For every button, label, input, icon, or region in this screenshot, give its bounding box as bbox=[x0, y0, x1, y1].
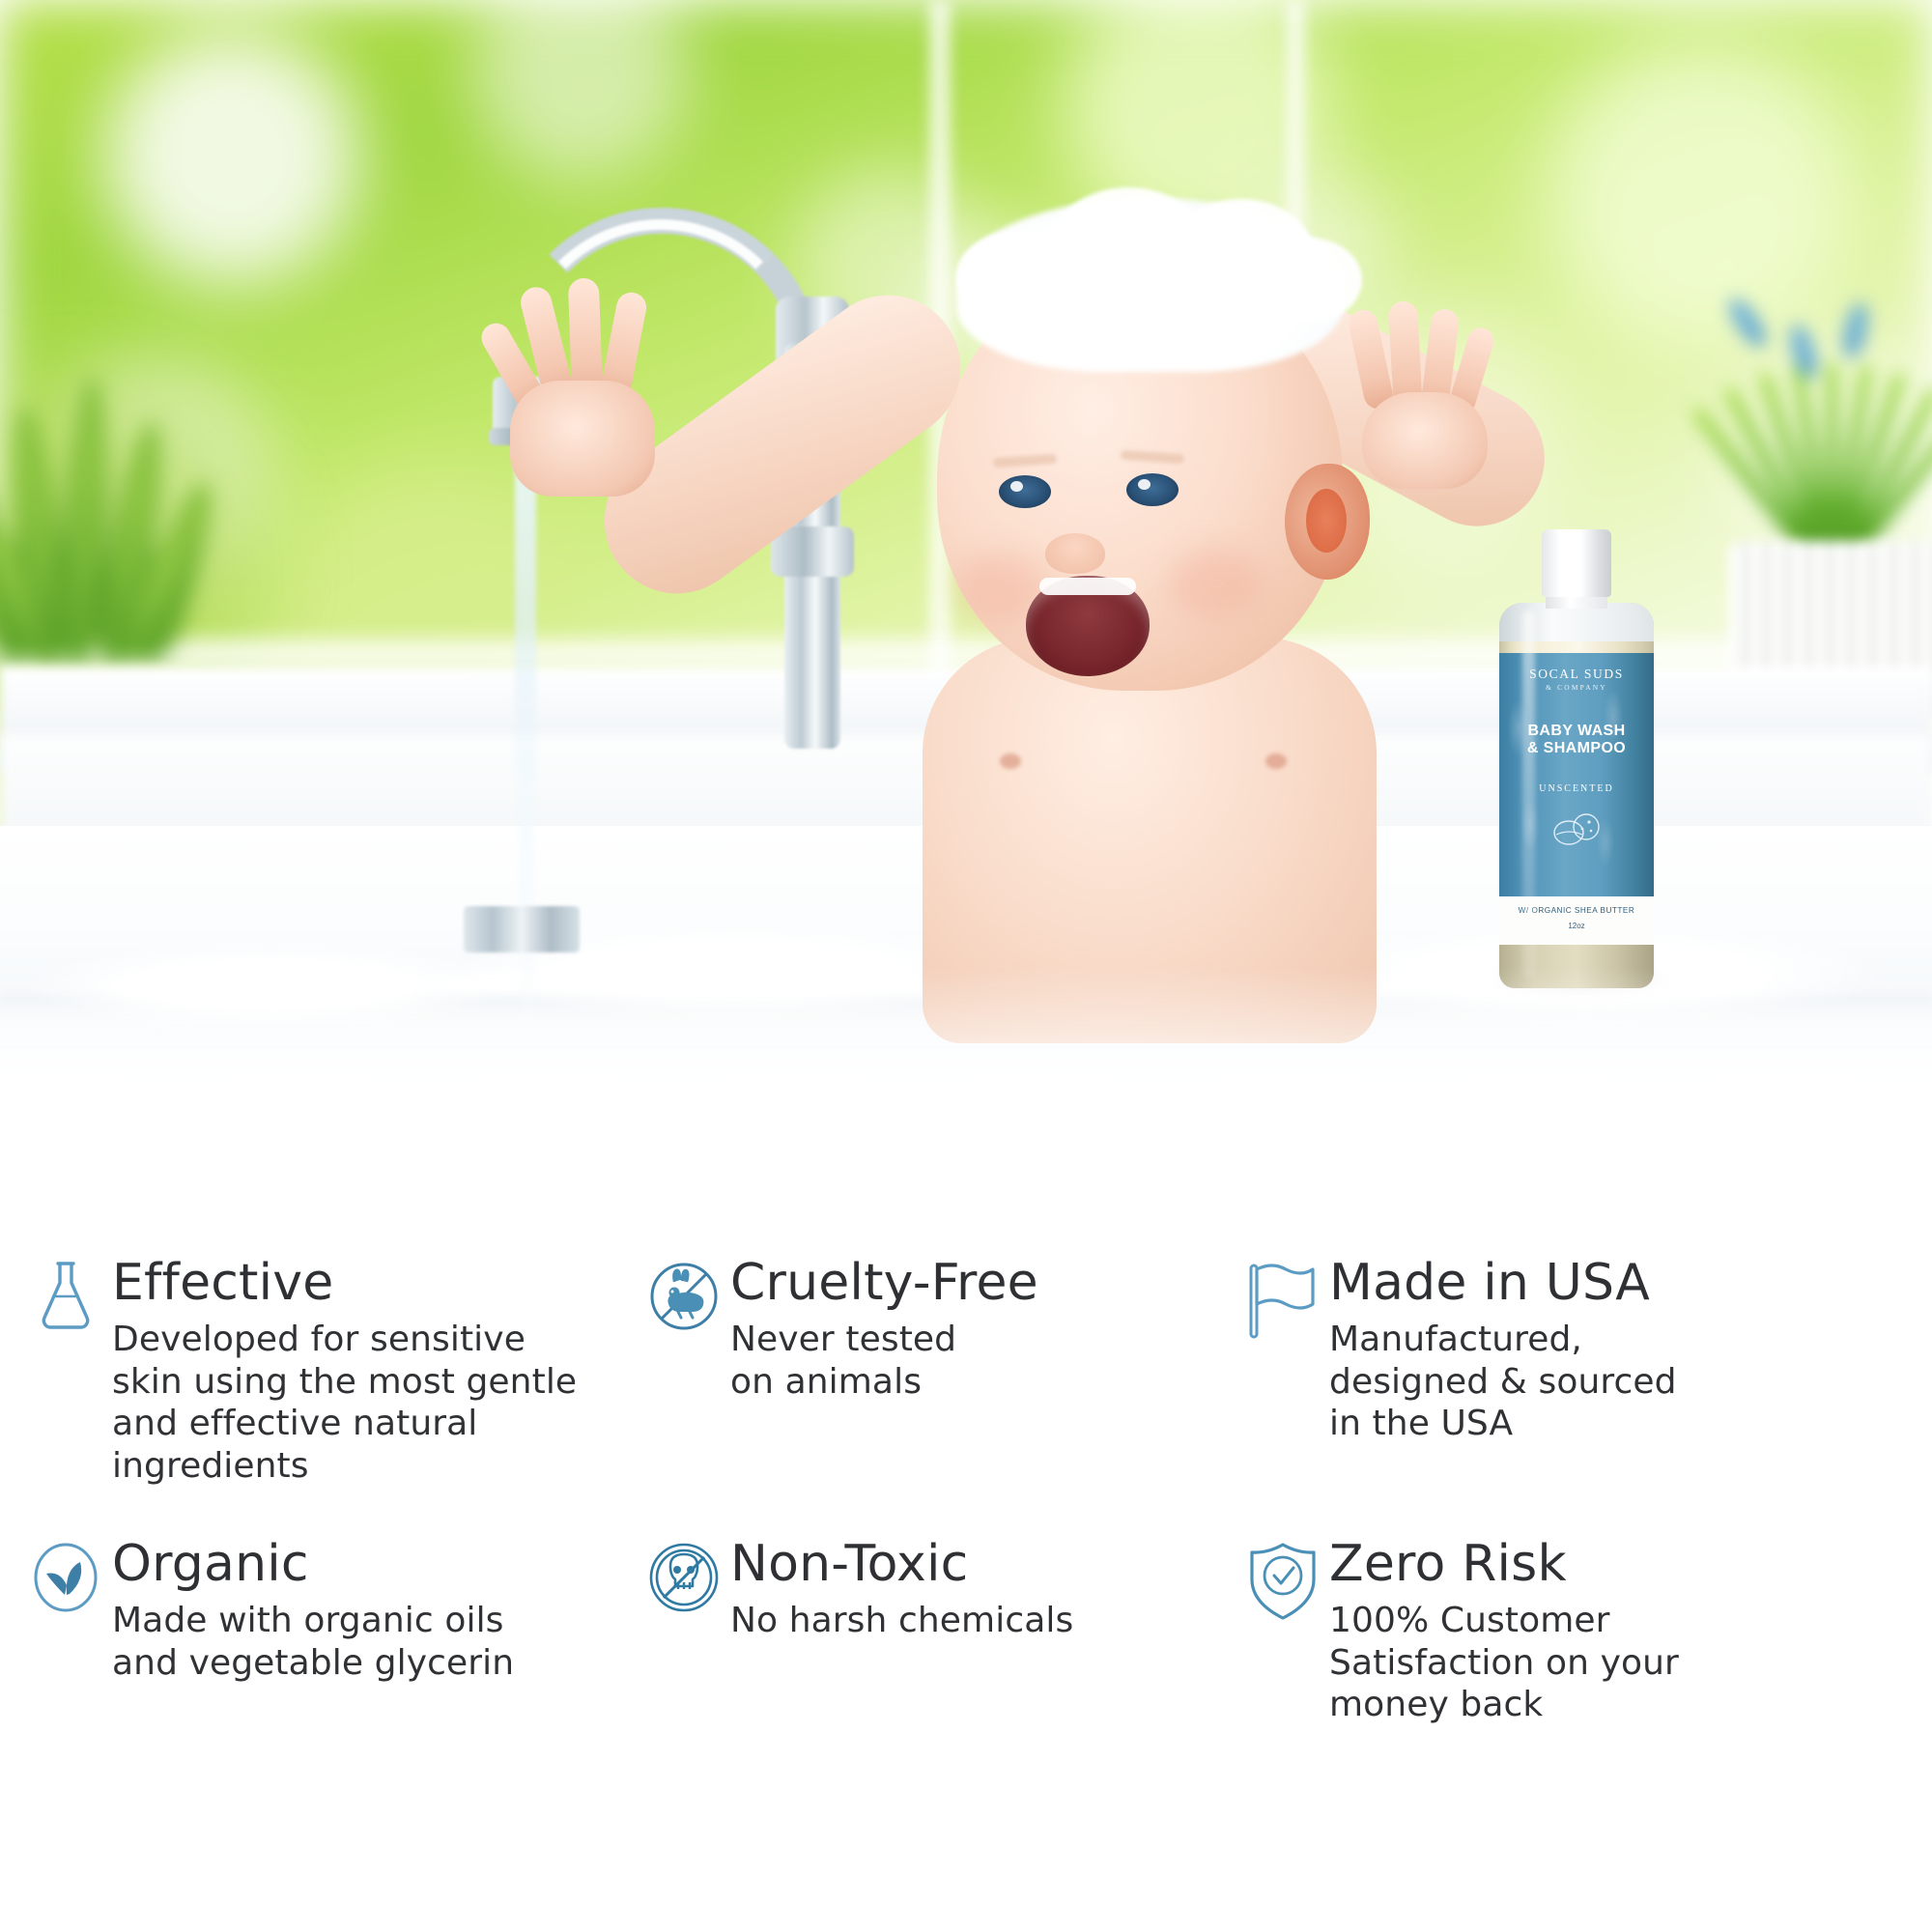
feature-text: Made in USA Manufactured, designed & sou… bbox=[1329, 1256, 1677, 1445]
feature-text: Organic Made with organic oils and veget… bbox=[112, 1537, 514, 1684]
product-bottle: SOCAL SUDS & COMPANY BABY WASH & SHAMPOO… bbox=[1499, 529, 1654, 988]
suds-bubble bbox=[1204, 288, 1296, 350]
features-grid: Effective Developed for sensitive skin u… bbox=[0, 1256, 1932, 1726]
flag-icon bbox=[1236, 1256, 1329, 1350]
sink-drain bbox=[464, 906, 580, 952]
baby-right-hand bbox=[1343, 309, 1502, 478]
feature-description: No harsh chemicals bbox=[730, 1600, 1073, 1642]
potted-plant-right bbox=[1700, 179, 1932, 584]
baby-eye-right bbox=[1126, 473, 1179, 506]
feature-title: Non-Toxic bbox=[730, 1539, 1073, 1590]
no-rabbit-icon bbox=[638, 1256, 730, 1350]
palm bbox=[510, 381, 655, 497]
flask-icon bbox=[19, 1256, 112, 1350]
feature-title: Cruelty-Free bbox=[730, 1258, 1038, 1309]
feature-text: Non-Toxic No harsh chemicals bbox=[730, 1537, 1073, 1642]
palm bbox=[1362, 392, 1488, 489]
shea-nut-icon bbox=[1549, 810, 1605, 850]
baby-left-hand bbox=[493, 280, 676, 473]
shield-check-icon bbox=[1236, 1537, 1329, 1632]
feature-effective: Effective Developed for sensitive skin u… bbox=[0, 1256, 618, 1487]
feature-description: Never tested on animals bbox=[730, 1319, 1038, 1403]
feature-non-toxic: Non-Toxic No harsh chemicals bbox=[618, 1537, 1217, 1726]
feature-description: Made with organic oils and vegetable gly… bbox=[112, 1600, 514, 1684]
baby-ear bbox=[1285, 464, 1370, 580]
feature-title: Zero Risk bbox=[1329, 1539, 1679, 1590]
baby-eye-left bbox=[999, 475, 1051, 508]
feature-text: Zero Risk 100% Customer Satisfaction on … bbox=[1329, 1537, 1679, 1726]
baby-cheek bbox=[1169, 549, 1262, 618]
feature-cruelty-free: Cruelty-Free Never tested on animals bbox=[618, 1256, 1217, 1487]
feature-title: Organic bbox=[112, 1539, 514, 1590]
feature-title: Effective bbox=[112, 1258, 577, 1309]
baby-nose bbox=[1045, 533, 1105, 574]
baby-in-sink bbox=[667, 174, 1536, 947]
finger bbox=[1347, 307, 1396, 412]
bottle-highlight bbox=[1522, 611, 1535, 978]
feature-description: Developed for sensitive skin using the m… bbox=[112, 1319, 577, 1487]
feature-organic: Organic Made with organic oils and veget… bbox=[0, 1537, 618, 1726]
bottle-cap bbox=[1542, 529, 1611, 597]
suds-bubble bbox=[1010, 288, 1097, 348]
features-panel: Effective Developed for sensitive skin u… bbox=[0, 1188, 1932, 1932]
hero-photo: SOCAL SUDS & COMPANY BABY WASH & SHAMPOO… bbox=[0, 0, 1932, 1179]
feature-text: Effective Developed for sensitive skin u… bbox=[112, 1256, 577, 1487]
photo-fade-to-white bbox=[0, 966, 1932, 1179]
feature-description: Manufactured, designed & sourced in the … bbox=[1329, 1319, 1677, 1445]
baby-open-mouth bbox=[1026, 576, 1150, 676]
no-skull-icon bbox=[638, 1537, 730, 1632]
baby-chest-detail bbox=[1000, 753, 1021, 769]
feature-description: 100% Customer Satisfaction on your money… bbox=[1329, 1600, 1679, 1726]
leaf-icon bbox=[19, 1537, 112, 1632]
product-marketing-image: SOCAL SUDS & COMPANY BABY WASH & SHAMPOO… bbox=[0, 0, 1932, 1932]
feature-title: Made in USA bbox=[1329, 1258, 1677, 1309]
feature-made-in-usa: Made in USA Manufactured, designed & sou… bbox=[1217, 1256, 1874, 1487]
herb-plant-left bbox=[0, 319, 251, 667]
feature-text: Cruelty-Free Never tested on animals bbox=[730, 1256, 1038, 1403]
baby-chest-detail bbox=[1265, 753, 1287, 769]
water-stream bbox=[515, 444, 536, 782]
feature-zero-risk: Zero Risk 100% Customer Satisfaction on … bbox=[1217, 1537, 1874, 1726]
